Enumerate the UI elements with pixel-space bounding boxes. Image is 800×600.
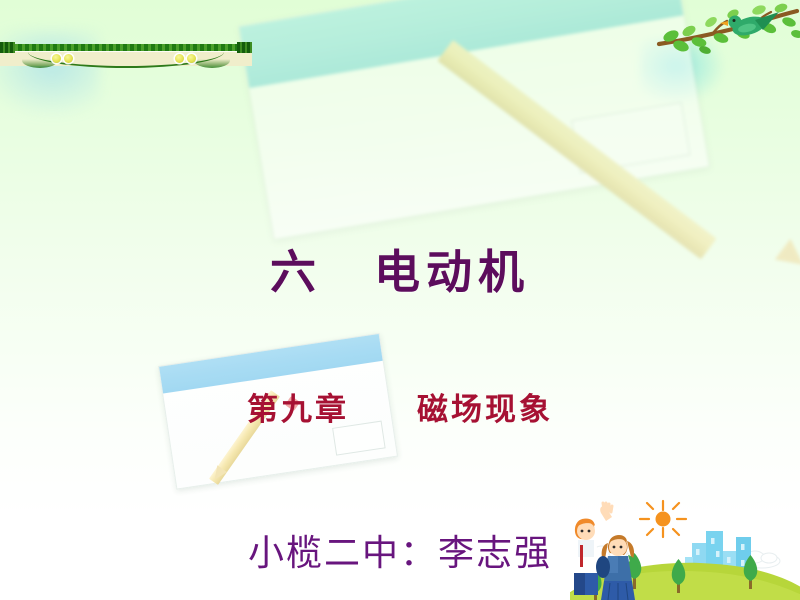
ribbon-end-cap-left — [0, 42, 15, 53]
slide-subtitle: 第九章 磁场现象 — [0, 384, 800, 429]
ribbon-end-cap-right — [237, 42, 252, 53]
slide-presenter: 小榄二中：李志强 — [0, 524, 800, 576]
presentation-slide: 六 电动机 第九章 磁场现象 小榄二中：李志强 — [0, 0, 800, 600]
ribbon-flower-icon — [185, 52, 198, 65]
ribbon-flower-icon — [62, 52, 75, 65]
notebook-with-pencil-small — [156, 356, 406, 506]
slide-title: 六 电动机 — [0, 236, 800, 302]
floral-ribbon-banner — [0, 34, 252, 78]
bird-on-branch-decor — [655, 0, 800, 66]
notebook-with-pencil-large — [238, 18, 708, 268]
ribbon-green-bar — [4, 44, 248, 51]
